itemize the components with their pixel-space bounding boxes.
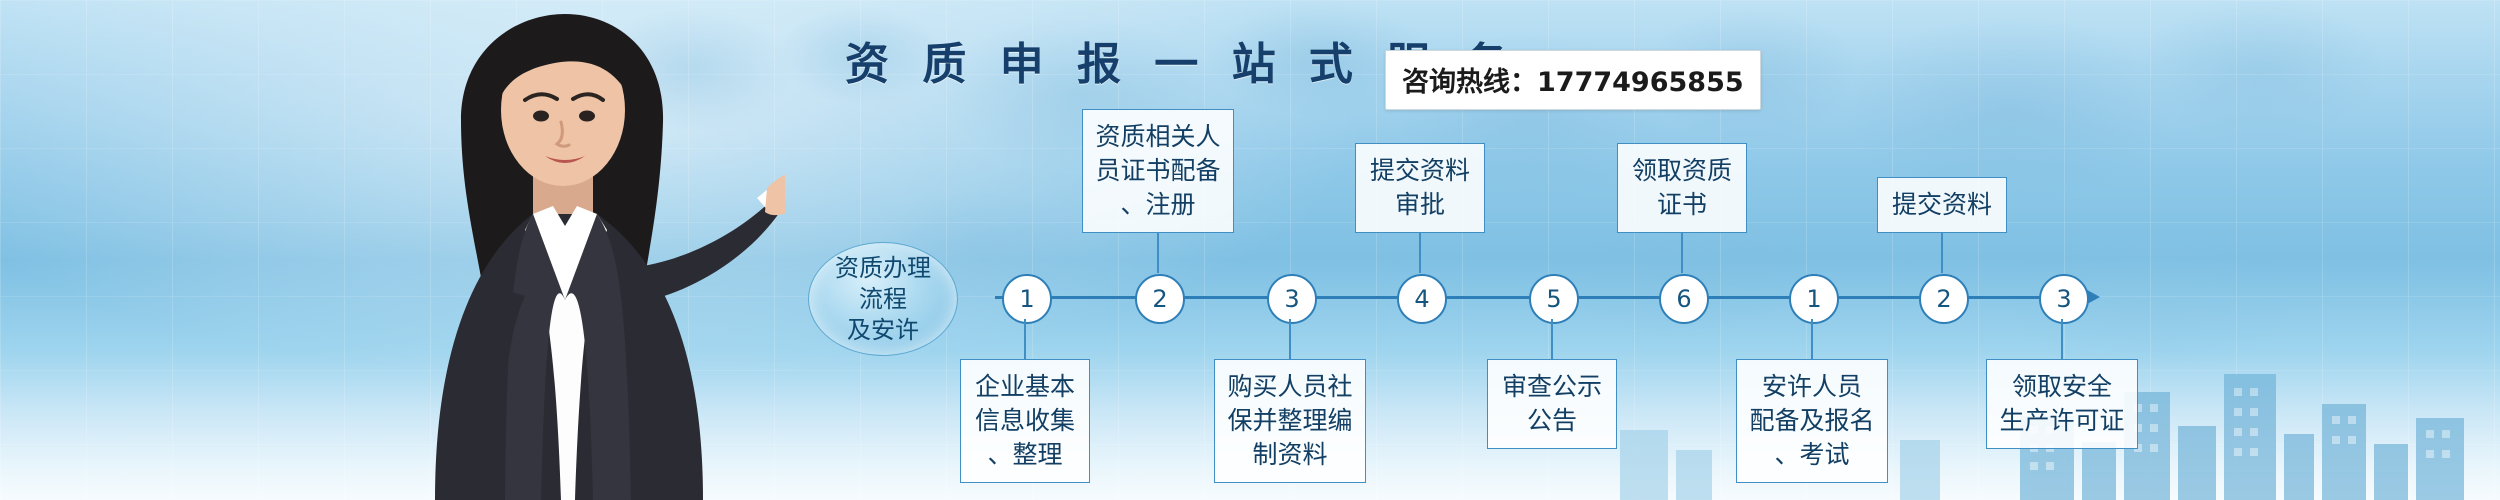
businesswoman-photo bbox=[365, 0, 785, 500]
hotline-badge: 咨询热线：17774965855 bbox=[1385, 50, 1761, 110]
flow-step-circle-3: 3 bbox=[1267, 274, 1317, 324]
flow-step-box-line: 公告 bbox=[1502, 404, 1602, 438]
flow-step-box-line: 领取安全 bbox=[1999, 370, 2124, 404]
flow-step-connector-7 bbox=[1811, 319, 1813, 359]
flow-step-box-line: 审批 bbox=[1370, 188, 1470, 222]
flow-step-box-line: 审查公示 bbox=[1502, 370, 1602, 404]
start-node-line-3: 及安许 bbox=[835, 315, 931, 346]
flow-step-connector-6 bbox=[1681, 233, 1683, 273]
flow-step-box-line: 领取资质 bbox=[1632, 154, 1732, 188]
flow-step-box-line: 提交资料 bbox=[1370, 154, 1470, 188]
flow-step-connector-8 bbox=[1941, 233, 1943, 273]
flow-step-number: 4 bbox=[1414, 285, 1429, 313]
flow-step-box-5: 审查公示公告 bbox=[1487, 359, 1617, 449]
flow-step-circle-6: 6 bbox=[1659, 274, 1709, 324]
flow-step-number: 6 bbox=[1676, 285, 1691, 313]
flow-step-circle-1: 1 bbox=[1002, 274, 1052, 324]
flow-step-box-1: 企业基本信息收集、整理 bbox=[960, 359, 1090, 483]
flow-step-box-line: 配备及报名 bbox=[1749, 404, 1874, 438]
flow-step-box-6: 领取资质证书 bbox=[1617, 143, 1747, 233]
flow-step-circle-5: 5 bbox=[1529, 274, 1579, 324]
flow-step-connector-3 bbox=[1289, 319, 1291, 359]
banner-root: 资 质 申 报 一 站 式 服 务 咨询热线：17774965855 资质办理 … bbox=[0, 0, 2500, 500]
flow-step-connector-1 bbox=[1024, 319, 1026, 359]
flow-step-box-8: 提交资料 bbox=[1877, 177, 2007, 233]
flow-step-box-line: 安许人员 bbox=[1749, 370, 1874, 404]
flow-step-box-line: 保并整理编 bbox=[1227, 404, 1352, 438]
flow-step-circle-8: 2 bbox=[1919, 274, 1969, 324]
flow-step-connector-5 bbox=[1551, 319, 1553, 359]
flow-step-circle-9: 3 bbox=[2039, 274, 2089, 324]
start-node-line-1: 资质办理 bbox=[835, 253, 931, 284]
flow-step-box-line: 资质相关人 bbox=[1095, 120, 1220, 154]
flow-step-box-line: 生产许可证 bbox=[1999, 404, 2124, 438]
flow-step-number: 1 bbox=[1019, 285, 1034, 313]
flow-step-box-line: 信息收集 bbox=[975, 404, 1075, 438]
flow-step-circle-7: 1 bbox=[1789, 274, 1839, 324]
flow-step-number: 3 bbox=[1284, 285, 1299, 313]
flow-step-connector-4 bbox=[1419, 233, 1421, 273]
flow-step-box-7: 安许人员配备及报名、考试 bbox=[1736, 359, 1888, 483]
flow-step-circle-4: 4 bbox=[1397, 274, 1447, 324]
flow-step-circle-2: 2 bbox=[1135, 274, 1185, 324]
flow-start-node: 资质办理 流程 及安许 bbox=[808, 242, 958, 356]
flow-step-box-line: 证书 bbox=[1632, 188, 1732, 222]
flow-step-number: 1 bbox=[1806, 285, 1821, 313]
flow-step-connector-2 bbox=[1157, 233, 1159, 273]
flow-step-box-line: 、整理 bbox=[975, 438, 1075, 472]
flow-step-number: 2 bbox=[1936, 285, 1951, 313]
flow-step-box-line: 制资料 bbox=[1227, 438, 1352, 472]
flow-step-box-3: 购买人员社保并整理编制资料 bbox=[1214, 359, 1366, 483]
flow-step-box-9: 领取安全生产许可证 bbox=[1986, 359, 2138, 449]
flow-step-number: 3 bbox=[2056, 285, 2071, 313]
flow-step-box-4: 提交资料审批 bbox=[1355, 143, 1485, 233]
flow-step-number: 2 bbox=[1152, 285, 1167, 313]
flow-step-box-line: 员证书配备 bbox=[1095, 154, 1220, 188]
flow-step-box-line: 提交资料 bbox=[1892, 188, 1992, 222]
flow-step-box-line: 、注册 bbox=[1095, 188, 1220, 222]
flow-step-box-2: 资质相关人员证书配备、注册 bbox=[1082, 109, 1234, 233]
flow-step-box-line: 企业基本 bbox=[975, 370, 1075, 404]
flow-step-box-line: 购买人员社 bbox=[1227, 370, 1352, 404]
flow-step-connector-9 bbox=[2061, 319, 2063, 359]
start-node-line-2: 流程 bbox=[835, 284, 931, 315]
flow-step-number: 5 bbox=[1546, 285, 1561, 313]
flow-step-box-line: 、考试 bbox=[1749, 438, 1874, 472]
